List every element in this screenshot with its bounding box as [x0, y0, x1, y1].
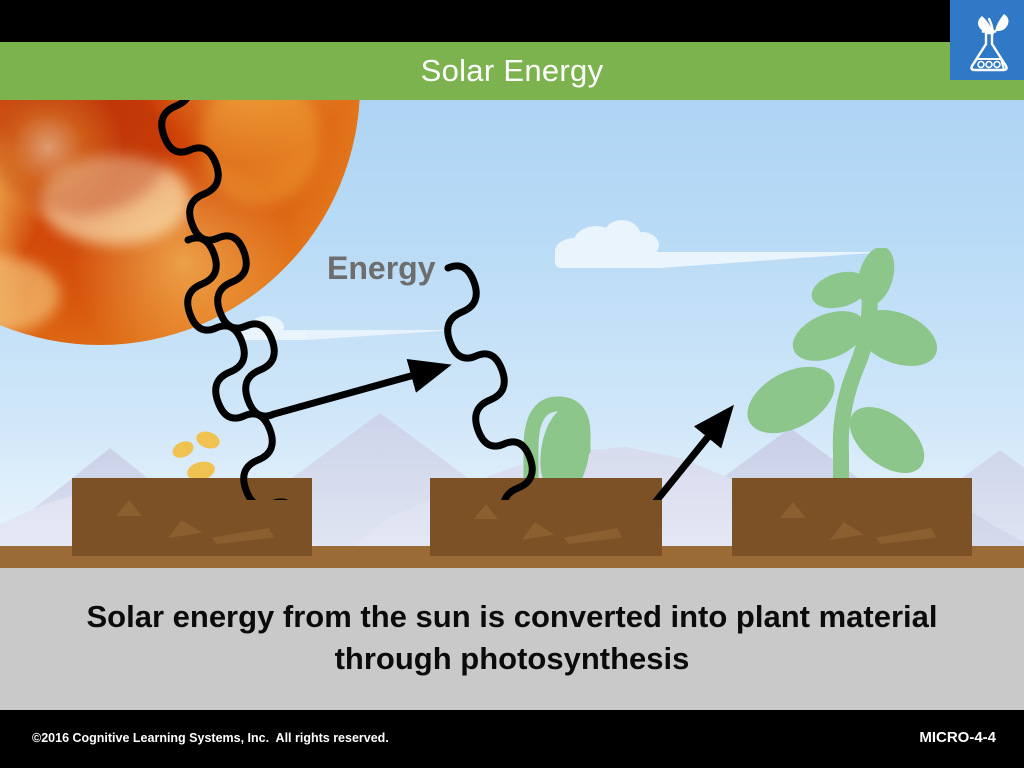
caption-text: Solar energy from the sun is converted i…	[60, 596, 964, 680]
brand-logo-badge[interactable]	[950, 0, 1024, 80]
copyright-text: ©2016 Cognitive Learning Systems, Inc. A…	[32, 731, 389, 745]
plant-leaf	[838, 394, 937, 486]
top-black-bar	[0, 0, 1024, 42]
energy-label: Energy	[327, 250, 435, 287]
energy-rays	[140, 40, 800, 500]
slide-code: MICRO-4-4	[919, 729, 996, 746]
flask-leaf-icon	[950, 0, 1024, 80]
sun-flare	[0, 255, 60, 335]
energy-ray	[448, 266, 712, 500]
page-title: Solar Energy	[0, 42, 1024, 100]
slide-canvas: Energy Solar Energy Solar energy from th…	[0, 0, 1024, 768]
